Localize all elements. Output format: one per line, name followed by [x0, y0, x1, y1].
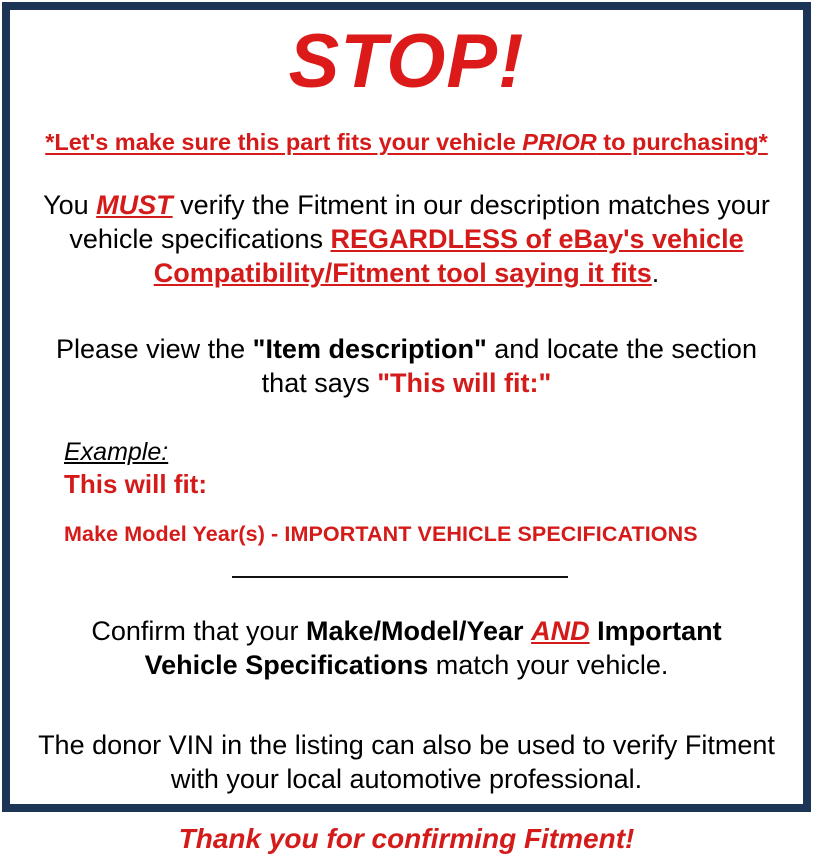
- notice-border-frame: STOP! *Let's make sure this part fits yo…: [2, 2, 811, 812]
- must-text-part-1: You: [43, 190, 96, 220]
- divider-rule: [232, 576, 568, 578]
- confirm-paragraph: Confirm that your Make/Model/Year AND Im…: [20, 614, 793, 682]
- item-description-paragraph: Please view the "Item description" and l…: [20, 332, 793, 400]
- desc-text-part-1: Please view the: [56, 334, 253, 364]
- must-text-part-3: .: [652, 258, 660, 288]
- this-will-fit-emphasis: "This will fit:": [377, 368, 551, 398]
- subtitle-suffix: to purchasing*: [597, 129, 768, 155]
- item-description-emphasis: "Item description": [253, 334, 487, 364]
- and-emphasis: AND: [531, 616, 590, 646]
- confirm-text-part-4: match your vehicle.: [428, 650, 668, 680]
- must-verify-paragraph: You MUST verify the Fitment in our descr…: [20, 188, 793, 290]
- subtitle-warning: *Let's make sure this part fits your veh…: [20, 128, 793, 156]
- example-block: Example: This will fit: Make Model Year(…: [20, 438, 793, 548]
- fitment-notice-card: STOP! *Let's make sure this part fits yo…: [0, 0, 813, 814]
- example-fit-heading: This will fit:: [64, 469, 793, 500]
- subtitle-prefix: *Let's make sure this part fits your veh…: [45, 129, 522, 155]
- stop-title: STOP!: [20, 24, 793, 100]
- must-emphasis: MUST: [96, 190, 173, 220]
- confirm-text-part-1: Confirm that your: [91, 616, 306, 646]
- make-model-year-emphasis: Make/Model/Year: [306, 616, 524, 646]
- closing-thank-you: Thank you for confirming Fitment!: [20, 822, 793, 856]
- confirm-space-1: [524, 616, 532, 646]
- section-divider: [20, 570, 793, 584]
- donor-vin-paragraph: The donor VIN in the listing can also be…: [20, 728, 793, 796]
- example-spec-line: Make Model Year(s) - IMPORTANT VEHICLE S…: [64, 522, 793, 548]
- confirm-space-2: [590, 616, 598, 646]
- example-label-row: Example:: [64, 438, 793, 467]
- example-label: Example:: [64, 438, 168, 467]
- subtitle-emphasis-prior: PRIOR: [522, 129, 596, 155]
